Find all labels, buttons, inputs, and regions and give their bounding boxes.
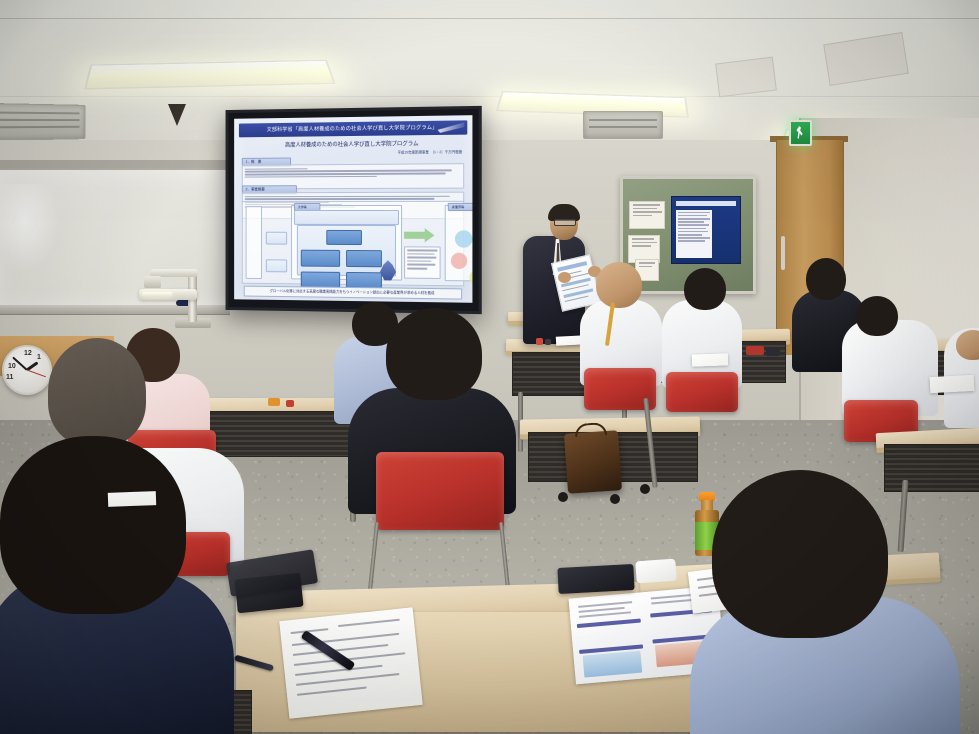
chair-caster (558, 492, 568, 502)
attendee-head (48, 338, 146, 446)
table-modesty-panel (884, 444, 979, 492)
presenter-hand (558, 272, 571, 283)
diagram-arrow (404, 228, 434, 242)
chair[interactable] (376, 452, 504, 530)
desk-item (286, 400, 294, 407)
leather-briefcase[interactable] (564, 430, 622, 494)
attendee-head (386, 308, 482, 400)
clock-second-hand (27, 370, 46, 378)
air-conditioner-vent (0, 103, 85, 141)
tissue-pack[interactable] (635, 559, 676, 584)
diagram-arrow-label (266, 259, 287, 272)
diagram-arrow-label (266, 232, 287, 245)
slide-date-note: 平成19年度新規事業 （1・2）千万円程度 (398, 149, 463, 155)
diagram-box (301, 271, 340, 287)
clock-numeral: 10 (8, 363, 16, 370)
desk-item (746, 346, 764, 355)
attendee-head (806, 258, 846, 300)
bulletin-notice (629, 201, 665, 229)
exit-sign (789, 120, 812, 146)
diagram-left-label (246, 206, 262, 279)
chair-caster (610, 494, 620, 504)
desk-marker (536, 338, 543, 345)
attendee-head (0, 436, 186, 614)
presenter-glasses (554, 219, 576, 226)
desk-item (766, 348, 780, 356)
diagram-box (346, 272, 382, 288)
diagram-box (346, 250, 382, 267)
whiteboard-rail (0, 160, 230, 168)
clock-numeral: 1 (37, 354, 41, 361)
diagram-box (301, 250, 340, 267)
desk-paper (108, 491, 156, 507)
attendee-head (856, 296, 898, 336)
diagram-center-note (294, 210, 399, 225)
slide-footer: グローバル化等に対応する高度な職業実践能力をもつイノベーション創出に必要な産業界… (244, 286, 462, 300)
wall-clock: 12 1 10 11 (2, 345, 52, 395)
door-handle[interactable] (781, 236, 785, 270)
bulletin-poster (671, 196, 741, 264)
air-conditioner-vent (583, 111, 663, 139)
ceiling-seam (0, 96, 979, 97)
clock-numeral: 12 (24, 350, 32, 357)
chair-caster (640, 484, 650, 494)
seminar-room-photo: EXIT 12 1 10 11 文部科学省「高度人材養成のための社会人学び直し大… (0, 0, 979, 734)
desk-paper (692, 353, 728, 366)
diagram-note-panel (404, 246, 441, 279)
ceiling-seam (0, 18, 979, 19)
desk-item (268, 398, 280, 406)
attendee-head (684, 268, 726, 310)
pencil-pouch[interactable] (557, 564, 634, 594)
projection-screen: 文部科学省「高度人材養成のための社会人学び直し大学院プログラム」 高度人材養成の… (226, 106, 482, 314)
desk-marker (545, 339, 551, 345)
attendee-head (596, 262, 642, 308)
diagram-right-heading: 産業界等 (448, 203, 473, 211)
document-camera-head-icon (144, 276, 161, 288)
attendee-head (712, 470, 888, 638)
document-camera-lamp (142, 292, 172, 297)
presentation-slide: 文部科学省「高度人材養成のための社会人学び直し大学院プログラム」 高度人材養成の… (234, 115, 472, 303)
diagram-circle (451, 253, 467, 269)
ceiling-panel (715, 57, 777, 98)
clock-numeral: 11 (6, 374, 13, 381)
diagram-circle (455, 230, 472, 247)
attendee-hand (956, 330, 979, 360)
chair[interactable] (666, 372, 738, 412)
slide-title: 文部科学省「高度人材養成のための社会人学び直し大学院プログラム」 (239, 120, 467, 137)
slide-diagram: 大学等 産業界等 (242, 201, 464, 287)
whiteboard-glare (0, 184, 60, 272)
slide-subtitle: 高度人材養成のための社会人学び直し大学院プログラム (234, 139, 472, 150)
diagram-box (326, 230, 362, 245)
desk-paper (930, 375, 975, 393)
